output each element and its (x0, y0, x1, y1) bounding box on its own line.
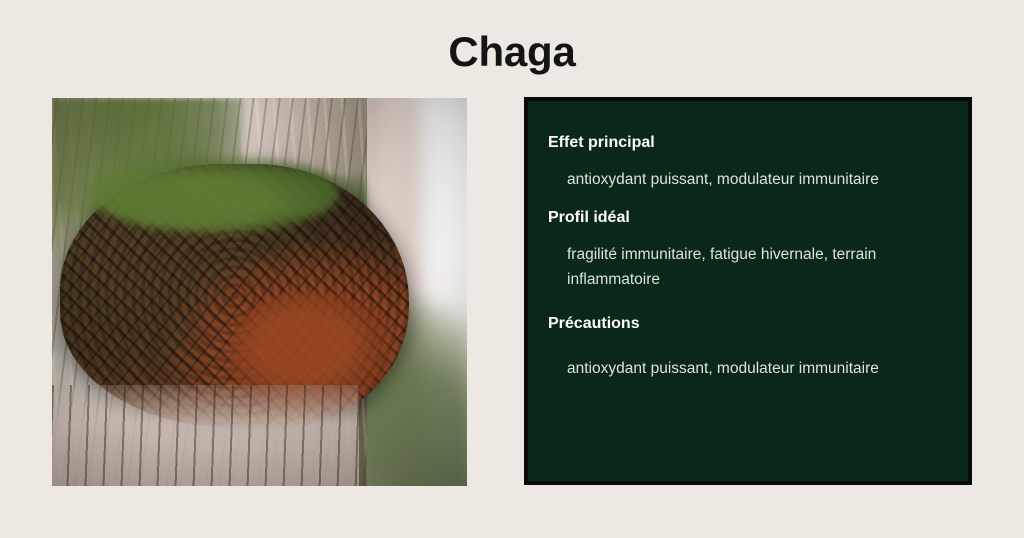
info-card-body: Effet principal antioxydant puissant, mo… (528, 101, 968, 381)
slide-root: Chaga Effet principal antioxydant pui (0, 0, 1024, 538)
page-title: Chaga (0, 26, 1024, 78)
section-text: fragilité immunitaire, fatigue hivernale… (548, 242, 912, 292)
section-heading: Profil idéal (548, 208, 944, 228)
section-heading: Effet principal (548, 133, 944, 153)
photo-vignette (52, 98, 467, 486)
info-card: Effet principal antioxydant puissant, mo… (524, 97, 972, 485)
section-effet-principal: Effet principal antioxydant puissant, mo… (548, 133, 944, 192)
section-heading: Précautions (548, 314, 944, 334)
photo-canvas (52, 98, 467, 486)
chaga-photo (52, 98, 467, 486)
section-text: antioxydant puissant, modulateur immunit… (548, 167, 897, 192)
section-precautions: Précautions antioxydant puissant, modula… (548, 314, 944, 381)
section-profil-ideal: Profil idéal fragilité immunitaire, fati… (548, 208, 944, 292)
section-text: antioxydant puissant, modulateur immunit… (548, 356, 897, 381)
